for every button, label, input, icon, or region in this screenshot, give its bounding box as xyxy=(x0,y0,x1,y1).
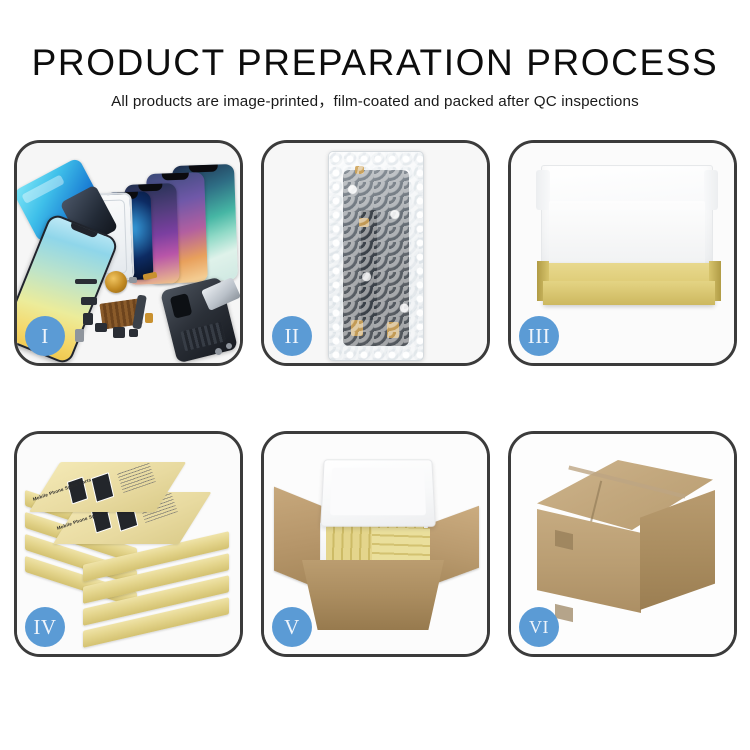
foam-lid-open-icon xyxy=(320,459,436,526)
process-step-panel-3[interactable]: III xyxy=(508,140,737,366)
bubble-wrap-bag-icon xyxy=(328,151,424,361)
step-badge-1: I xyxy=(25,316,65,356)
step-badge-2: II xyxy=(272,316,312,356)
step-badge-6: VI xyxy=(519,607,559,647)
button-part-icon xyxy=(129,329,138,337)
sealed-carton-illustration: VI xyxy=(511,434,734,654)
foam-sheet-icon xyxy=(549,201,705,267)
step-numeral: II xyxy=(285,324,300,349)
camera-module-icon xyxy=(81,297,97,305)
step-numeral: V xyxy=(284,615,300,640)
sim-tray-icon xyxy=(95,323,107,332)
charging-port-icon xyxy=(145,313,153,323)
screw-set-icon xyxy=(75,329,84,342)
step-numeral: VI xyxy=(529,617,549,638)
phone-parts-illustration: I xyxy=(17,143,240,363)
process-step-panel-1[interactable]: I xyxy=(14,140,243,366)
process-step-panel-2[interactable]: II xyxy=(261,140,490,366)
screw-icon xyxy=(215,348,222,355)
step-badge-4: IV xyxy=(25,607,65,647)
process-step-panel-4[interactable]: Mobile Phone Spare Parts Mobile Phone Sp… xyxy=(14,431,243,657)
product-preparation-infographic: PRODUCT PREPARATION PROCESS All products… xyxy=(0,0,750,750)
step-numeral: IV xyxy=(33,615,56,640)
yellow-box-front-icon xyxy=(543,281,715,305)
step-numeral: I xyxy=(41,324,49,349)
step-badge-5: V xyxy=(272,607,312,647)
bubble-wrap-illustration: II xyxy=(264,143,487,363)
metal-bracket-icon xyxy=(129,277,137,283)
carton-packing-illustration: V xyxy=(264,434,487,654)
stacked-boxes-illustration: Mobile Phone Spare Parts Mobile Phone Sp… xyxy=(17,434,240,654)
process-step-panel-5[interactable]: V xyxy=(261,431,490,657)
page-title: PRODUCT PREPARATION PROCESS xyxy=(0,41,750,85)
speaker-coil-icon xyxy=(105,271,127,293)
header: PRODUCT PREPARATION PROCESS All products… xyxy=(0,0,750,112)
page-subtitle: All products are image-printed，film-coat… xyxy=(0,92,750,112)
vibration-motor-icon xyxy=(83,313,93,325)
inner-box-illustration: III xyxy=(511,143,734,363)
screw-icon xyxy=(226,343,232,349)
step-numeral: III xyxy=(528,324,550,349)
carton-body-icon xyxy=(302,560,444,630)
process-step-grid: I II xyxy=(14,140,736,657)
process-step-panel-6[interactable]: VI xyxy=(508,431,737,657)
step-badge-3: III xyxy=(519,316,559,356)
bubble-texture-overlay xyxy=(329,152,423,360)
earpiece-icon xyxy=(113,327,125,338)
small-part-icon xyxy=(75,279,97,284)
